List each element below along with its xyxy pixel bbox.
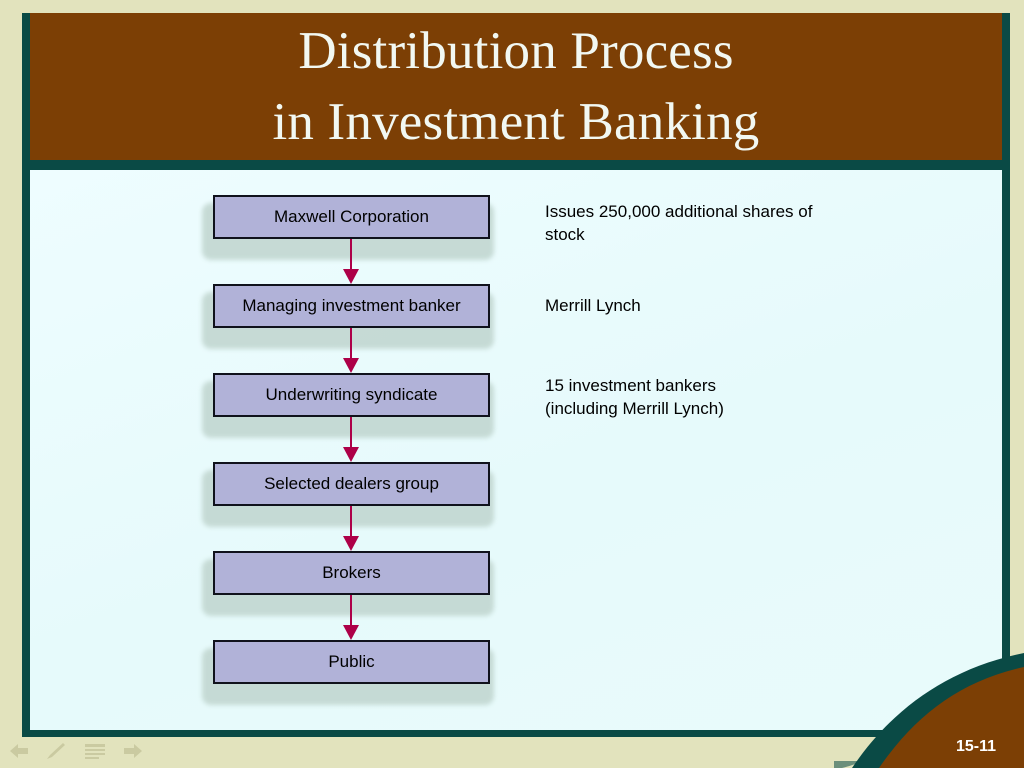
slide-navigation-bar[interactable] [0, 735, 206, 768]
flow-arrow-icon [343, 595, 359, 640]
flow-step-box[interactable]: Managing investment banker [213, 284, 490, 328]
flow-step-box[interactable]: Selected dealers group [213, 462, 490, 506]
flow-step-label: Brokers [322, 563, 381, 583]
pen-icon[interactable] [44, 741, 70, 763]
flow-step-box[interactable]: Maxwell Corporation [213, 195, 490, 239]
menu-lines-icon[interactable] [82, 741, 108, 763]
annotation-note: Issues 250,000 additional shares of stoc… [545, 201, 885, 247]
flow-step-label: Public [328, 652, 374, 672]
previous-arrow-icon[interactable] [6, 741, 32, 763]
flow-step-label: Underwriting syndicate [266, 385, 438, 405]
next-arrow-icon[interactable] [120, 741, 146, 763]
presentation-slide: Distribution Process in Investment Banki… [0, 0, 1024, 768]
title-line-1: Distribution Process [298, 16, 733, 86]
flow-arrow-icon [343, 506, 359, 551]
flow-step-box[interactable]: Underwriting syndicate [213, 373, 490, 417]
flow-step-label: Maxwell Corporation [274, 207, 429, 227]
flow-arrow-icon [343, 417, 359, 462]
flow-arrow-icon [343, 239, 359, 284]
flow-arrow-icon [343, 328, 359, 373]
title-line-2: in Investment Banking [272, 87, 759, 157]
flow-step-label: Selected dealers group [264, 474, 439, 494]
slide-body: Maxwell Corporation Managing investment … [30, 170, 1002, 730]
page-number: 15-11 [956, 738, 996, 756]
annotation-note: 15 investment bankers (including Merrill… [545, 375, 885, 421]
annotation-note: Merrill Lynch [545, 295, 885, 318]
title-banner: Distribution Process in Investment Banki… [30, 13, 1002, 160]
page-title: Distribution Process in Investment Banki… [30, 13, 1002, 160]
flow-step-box[interactable]: Public [213, 640, 490, 684]
flow-step-box[interactable]: Brokers [213, 551, 490, 595]
flow-step-label: Managing investment banker [242, 296, 460, 316]
